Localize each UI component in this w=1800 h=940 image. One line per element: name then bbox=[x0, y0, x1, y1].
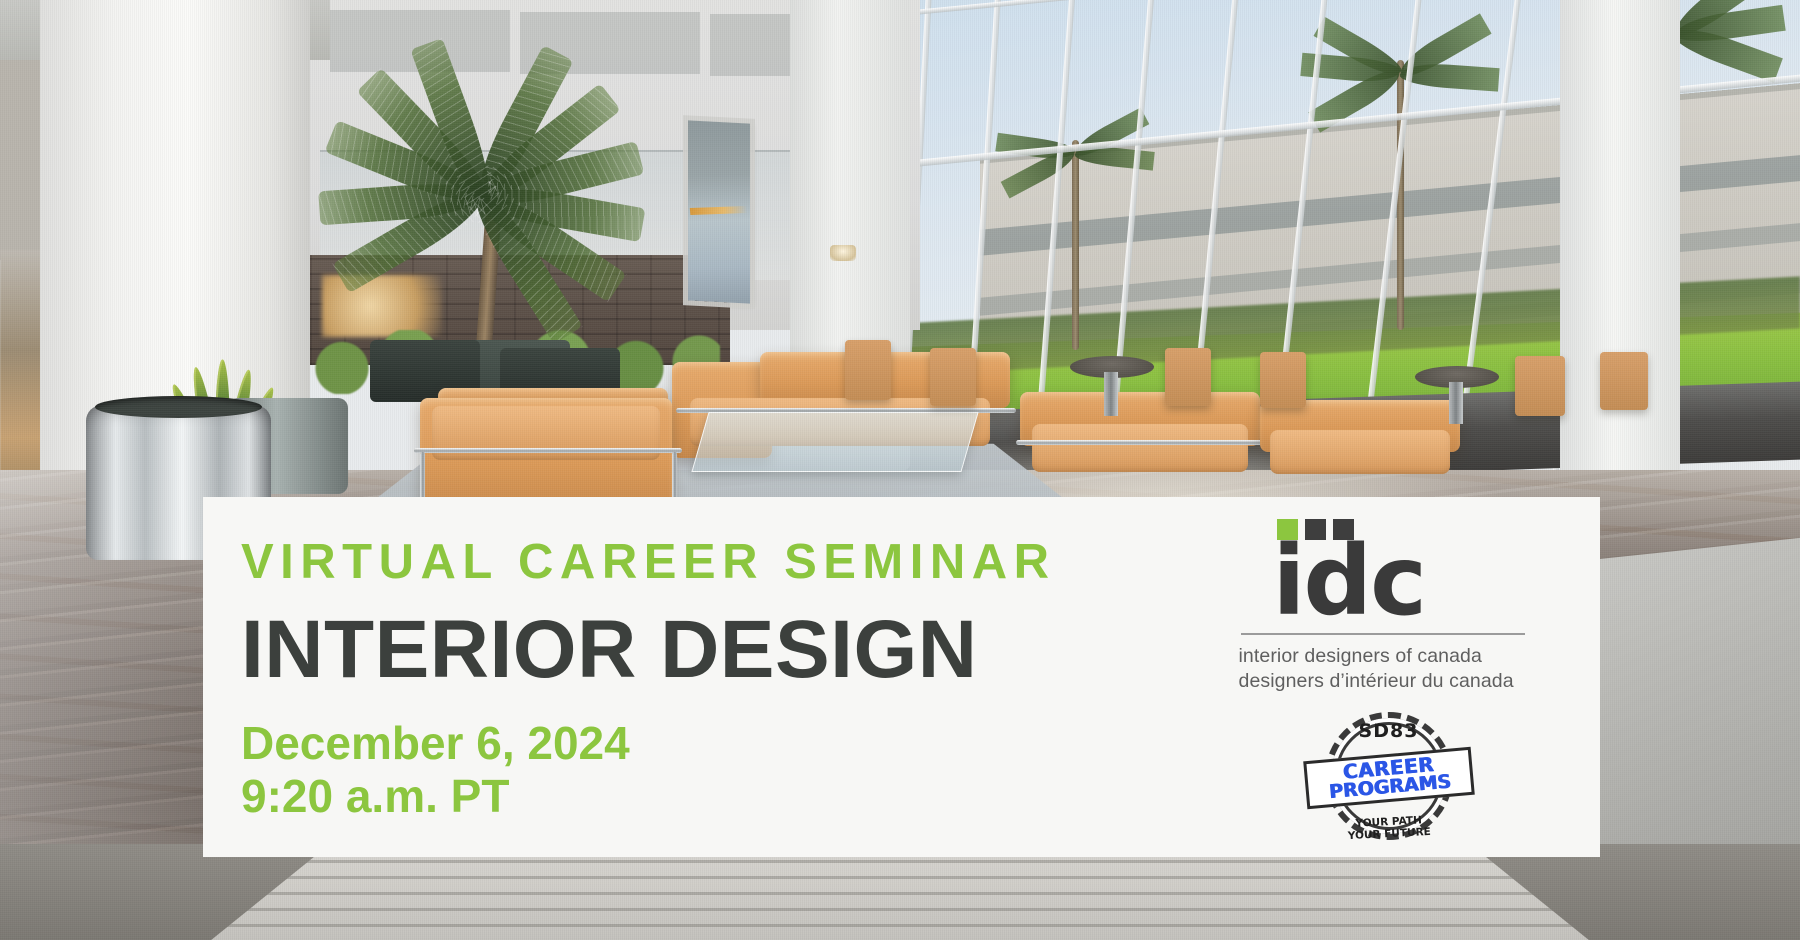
wall-artwork-panel bbox=[688, 120, 750, 303]
tan-lounge-cushion-right-2 bbox=[1270, 430, 1450, 474]
wall-sconce-light bbox=[830, 245, 856, 261]
stamp-footer: YOUR PATH YOUR FUTURE bbox=[1302, 811, 1475, 844]
cafe-chair-2 bbox=[930, 348, 976, 406]
sd83-career-programs-stamp: SD83 CAREER PROGRAMS YOUR PATH YOUR FUTU… bbox=[1303, 710, 1475, 842]
event-title: INTERIOR DESIGN bbox=[241, 606, 1205, 695]
event-eyebrow: VIRTUAL CAREER SEMINAR bbox=[241, 537, 1205, 588]
tan-lounge-cushion-right bbox=[1032, 424, 1248, 472]
cafe-table-stem-2 bbox=[1449, 382, 1463, 424]
event-time: 9:20 a.m. PT bbox=[241, 770, 1205, 823]
event-info-card: VIRTUAL CAREER SEMINAR INTERIOR DESIGN D… bbox=[203, 497, 1600, 857]
cafe-chair-4 bbox=[1260, 352, 1306, 408]
idc-wordmark: idc bbox=[1273, 542, 1539, 621]
lounge-chrome-rail-right bbox=[1016, 440, 1270, 445]
cafe-chair-1 bbox=[845, 340, 891, 400]
idc-tagline-en: interior designers of canada bbox=[1239, 644, 1539, 669]
stamp-district-label: SD83 bbox=[1303, 720, 1475, 742]
logo-column: idc interior designers of canada designe… bbox=[1205, 497, 1600, 842]
lounge-chrome-rail-front bbox=[414, 448, 682, 453]
cafe-chair-3 bbox=[1165, 348, 1211, 406]
event-date: December 6, 2024 bbox=[241, 717, 1205, 770]
indoor-palm-tree bbox=[330, 60, 660, 380]
structural-column-right bbox=[1560, 0, 1680, 490]
cafe-chair-5 bbox=[1515, 356, 1565, 416]
cafe-chair-6 bbox=[1600, 352, 1648, 410]
idc-logo: idc interior designers of canada designe… bbox=[1239, 519, 1539, 694]
event-text-block: VIRTUAL CAREER SEMINAR INTERIOR DESIGN D… bbox=[203, 497, 1205, 824]
cafe-table-stem-1 bbox=[1104, 372, 1118, 416]
glass-coffee-table bbox=[691, 412, 978, 472]
career-seminar-poster: VIRTUAL CAREER SEMINAR INTERIOR DESIGN D… bbox=[0, 0, 1800, 940]
idc-tagline-fr: designers d’intérieur du canada bbox=[1239, 669, 1539, 694]
